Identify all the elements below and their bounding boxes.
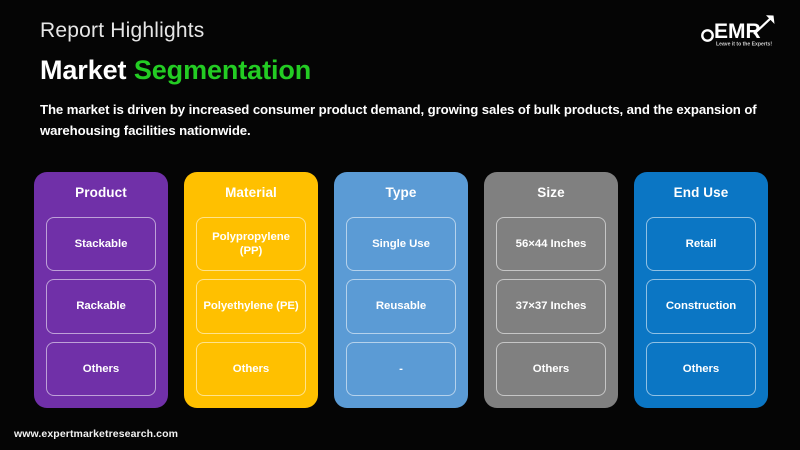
- segment-chip[interactable]: Retail: [646, 217, 756, 271]
- segment-card-material[interactable]: Material Polypropylene (PP) Polyethylene…: [184, 172, 318, 408]
- segment-card-items: 56×44 Inches 37×37 Inches Others: [496, 217, 606, 396]
- segment-card-title: Material: [196, 186, 306, 201]
- segment-chip[interactable]: -: [346, 342, 456, 396]
- segment-chip[interactable]: 37×37 Inches: [496, 279, 606, 333]
- segment-chip[interactable]: Construction: [646, 279, 756, 333]
- segment-chip[interactable]: Others: [496, 342, 606, 396]
- segment-card-size[interactable]: Size 56×44 Inches 37×37 Inches Others: [484, 172, 618, 408]
- segment-card-type[interactable]: Type Single Use Reusable -: [334, 172, 468, 408]
- page-title-word-2: Segmentation: [134, 55, 311, 85]
- segment-card-end-use[interactable]: End Use Retail Construction Others: [634, 172, 768, 408]
- segment-chip[interactable]: Rackable: [46, 279, 156, 333]
- segment-chip[interactable]: 56×44 Inches: [496, 217, 606, 271]
- logo-tagline-text: Leave it to the Experts!: [716, 42, 772, 48]
- segment-card-title: Size: [496, 186, 606, 201]
- segment-chip[interactable]: Others: [646, 342, 756, 396]
- segment-card-title: Type: [346, 186, 456, 201]
- segmentation-cards: Product Stackable Rackable Others Materi…: [34, 172, 768, 408]
- slide-canvas: Report Highlights Market Segmentation Th…: [0, 0, 800, 450]
- segment-card-items: Polypropylene (PP) Polyethylene (PE) Oth…: [196, 217, 306, 396]
- segment-chip[interactable]: Reusable: [346, 279, 456, 333]
- page-title-word-1: Market: [40, 55, 126, 85]
- segment-chip[interactable]: Stackable: [46, 217, 156, 271]
- page-title: Market Segmentation: [40, 56, 311, 84]
- segment-card-items: Single Use Reusable -: [346, 217, 456, 396]
- segment-card-product[interactable]: Product Stackable Rackable Others: [34, 172, 168, 408]
- logo-circle-icon: [702, 30, 712, 40]
- eyebrow-label: Report Highlights: [40, 20, 204, 41]
- segment-card-items: Retail Construction Others: [646, 217, 756, 396]
- segment-chip[interactable]: Single Use: [346, 217, 456, 271]
- segment-chip[interactable]: Polyethylene (PE): [196, 279, 306, 333]
- segment-chip[interactable]: Polypropylene (PP): [196, 217, 306, 271]
- subtitle-text: The market is driven by increased consum…: [40, 99, 770, 142]
- segment-card-items: Stackable Rackable Others: [46, 217, 156, 396]
- segment-chip[interactable]: Others: [196, 342, 306, 396]
- segment-chip[interactable]: Others: [46, 342, 156, 396]
- segment-card-title: Product: [46, 186, 156, 201]
- emr-logo: EMR Leave it to the Experts!: [694, 8, 786, 50]
- logo-brand-text: EMR: [714, 20, 761, 43]
- segment-card-title: End Use: [646, 186, 756, 201]
- footer-website[interactable]: www.expertmarketresearch.com: [14, 428, 178, 440]
